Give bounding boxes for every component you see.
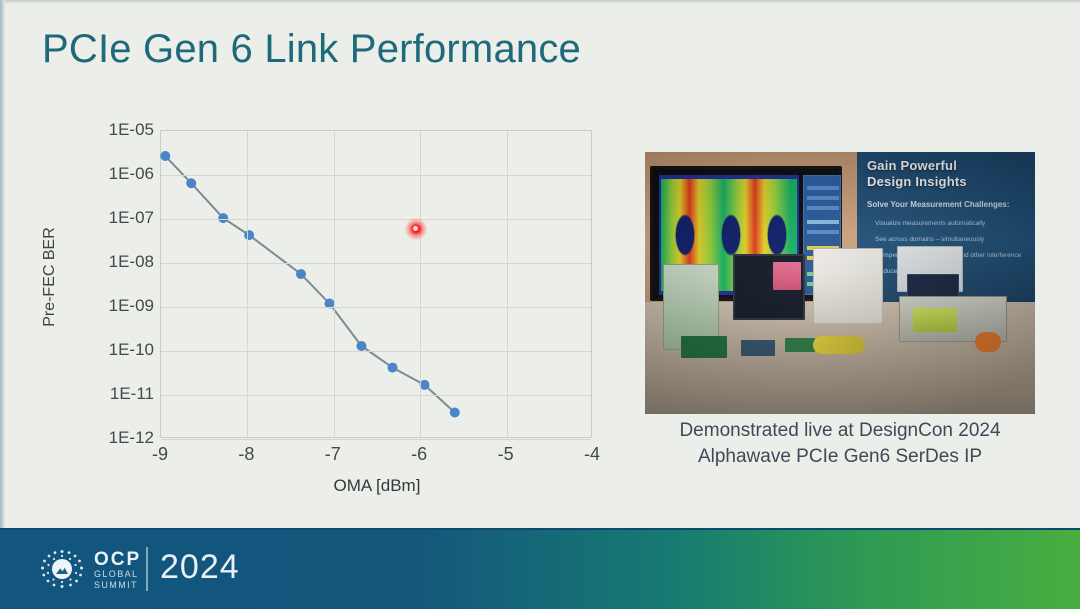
y-axis-tick-label: 1E-11 [62, 384, 154, 404]
grid-line-horizontal [161, 351, 591, 352]
photo-caption-line1: Demonstrated live at DesignCon 2024 [623, 420, 1057, 442]
x-axis-tick-label: -5 [481, 444, 531, 465]
series-data-point [244, 230, 254, 240]
ocp-name: OCP [94, 550, 141, 569]
slide-left-edge [0, 0, 5, 528]
series-data-point [388, 363, 398, 373]
series-data-point [356, 341, 366, 351]
y-axis-tick-label: 1E-10 [62, 340, 154, 360]
ocp-global: GLOBAL [94, 569, 141, 580]
grid-line-vertical [334, 131, 335, 437]
x-axis-tick-label: -9 [135, 444, 185, 465]
footer-year: 2024 [160, 548, 240, 587]
slide-canvas: PCIe Gen 6 Link Performance Pre-FEC BER … [0, 0, 1080, 609]
chart-series-line [161, 131, 593, 439]
x-axis-tick-label: -8 [221, 444, 271, 465]
ocp-logo-icon [36, 546, 92, 592]
ocp-summit: SUMMIT [94, 580, 141, 591]
series-data-point [186, 178, 196, 188]
footer-divider [0, 528, 1080, 530]
grid-line-horizontal [161, 175, 591, 176]
grid-line-vertical [247, 131, 248, 437]
grid-line-horizontal [161, 439, 591, 440]
grid-line-horizontal [161, 395, 591, 396]
series-data-point [296, 269, 306, 279]
photo-vignette [645, 152, 1035, 414]
chart-x-axis-label: OMA [dBm] [160, 476, 594, 496]
ocp-mountain-icon [52, 559, 72, 579]
x-axis-tick-label: -4 [567, 444, 617, 465]
footer-logo-divider [146, 547, 148, 591]
chart-ber-vs-oma: Pre-FEC BER 1E-051E-061E-071E-081E-091E-… [22, 108, 632, 528]
y-axis-tick-label: 1E-06 [62, 164, 154, 184]
photo-caption-line2: Alphawave PCIe Gen6 SerDes IP [623, 446, 1057, 468]
grid-line-horizontal [161, 263, 591, 264]
x-axis-tick-label: -7 [308, 444, 358, 465]
chart-y-axis-label: Pre-FEC BER [41, 207, 59, 347]
y-axis-tick-label: 1E-09 [62, 296, 154, 316]
page-title: PCIe Gen 6 Link Performance [42, 27, 581, 72]
ocp-wordmark: OCP GLOBAL SUMMIT [94, 550, 141, 591]
y-axis-tick-label: 1E-07 [62, 208, 154, 228]
series-data-point [160, 151, 170, 161]
grid-line-horizontal [161, 307, 591, 308]
grid-line-vertical [507, 131, 508, 437]
chart-plot-area [160, 130, 592, 438]
chart-x-axis-ticks: -9-8-7-6-5-4 [160, 444, 594, 470]
y-axis-tick-label: 1E-08 [62, 252, 154, 272]
demo-photo: Gain Powerful Design Insights Solve Your… [645, 152, 1035, 414]
grid-line-vertical [420, 131, 421, 437]
series-polyline [165, 156, 454, 412]
x-axis-tick-label: -6 [394, 444, 444, 465]
chart-y-axis-ticks: 1E-051E-061E-071E-081E-091E-101E-111E-12 [62, 121, 154, 426]
slide-footer: OCP GLOBAL SUMMIT 2024 FROM IDEAS TO IMP… [0, 528, 1080, 609]
grid-line-horizontal [161, 219, 591, 220]
demo-photo-block: Gain Powerful Design Insights Solve Your… [645, 152, 1035, 414]
slide-top-edge [0, 0, 1080, 4]
y-axis-tick-label: 1E-05 [62, 120, 154, 140]
series-data-point [450, 408, 460, 418]
